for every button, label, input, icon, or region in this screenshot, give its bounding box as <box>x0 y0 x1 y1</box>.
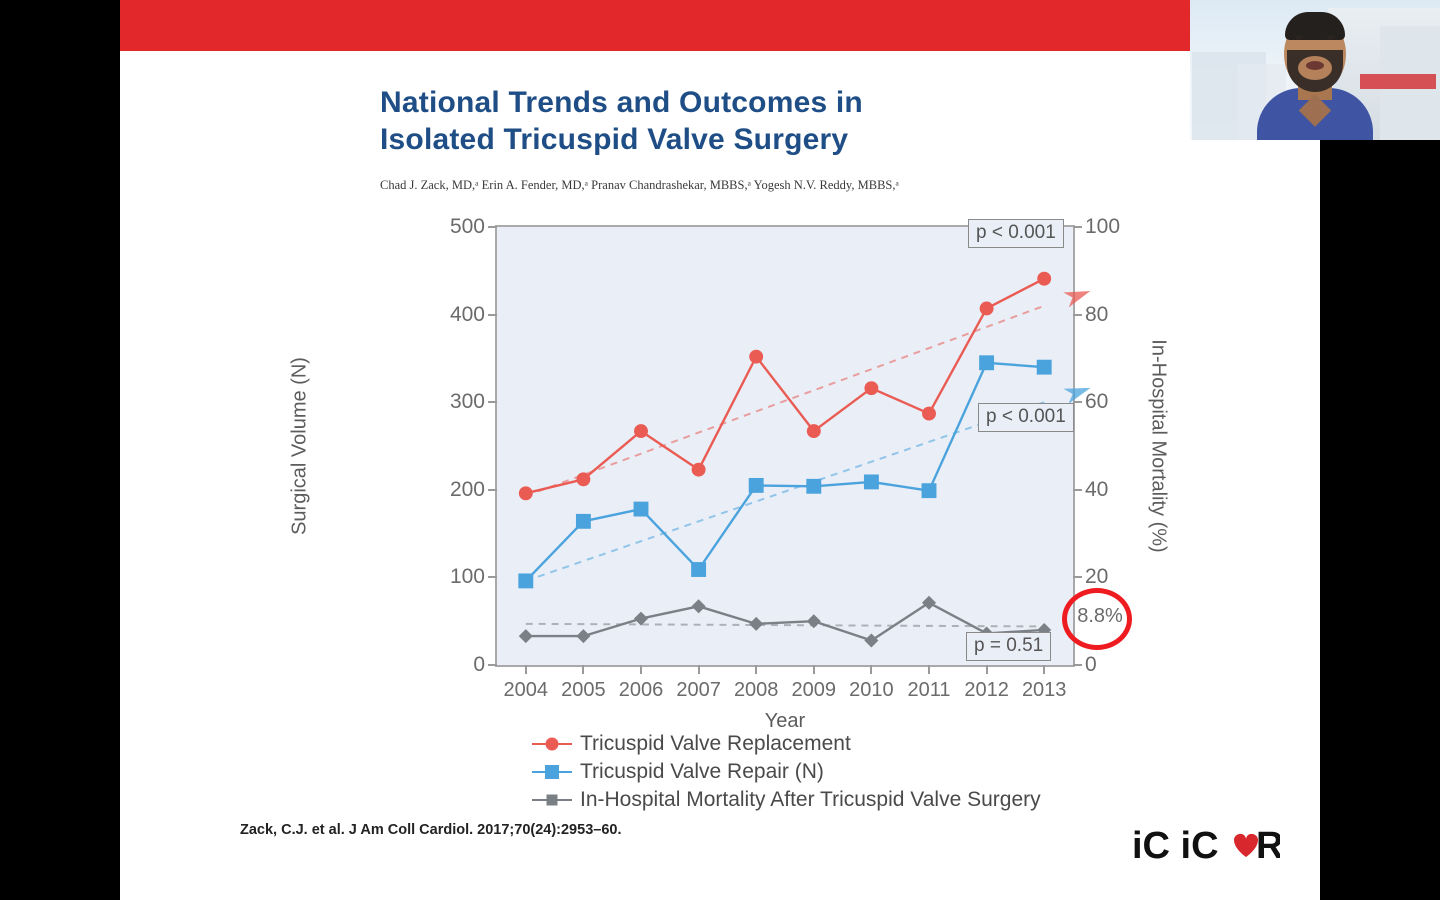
legend-label: In-Hospital Mortality After Tricuspid Va… <box>580 788 1041 812</box>
x-tick-mark <box>813 665 815 674</box>
y-tick-mark-right <box>1073 489 1082 491</box>
title-line-1: National Trends and Outcomes in <box>380 85 1080 122</box>
y-tick-mark-left <box>488 401 497 403</box>
x-tick-label: 2010 <box>849 679 894 702</box>
mortality-callout-label: 8.8% <box>1070 605 1130 628</box>
x-tick-label: 2008 <box>734 679 779 702</box>
x-tick-mark <box>640 665 642 674</box>
legend-marker-square-icon <box>532 762 572 782</box>
y-tick-mark-left <box>488 314 497 316</box>
y-tick-label-right: 20 <box>1085 565 1108 589</box>
plot-area: 0100200300400500020406080100200420052006… <box>495 225 1075 667</box>
x-tick-label: 2012 <box>964 679 1009 702</box>
y-tick-label-right: 100 <box>1085 215 1120 239</box>
y-tick-label-left: 500 <box>450 215 485 239</box>
presentation-slide: National Trends and Outcomes in Isolated… <box>120 0 1320 900</box>
y-tick-mark-right <box>1073 664 1082 666</box>
slide-header-bar <box>120 0 1320 51</box>
screen: National Trends and Outcomes in Isolated… <box>0 0 1440 900</box>
y-tick-mark-left <box>488 576 497 578</box>
p-value-mortality: p = 0.51 <box>966 632 1051 661</box>
webcam-background-sign <box>1360 74 1436 89</box>
x-tick-mark <box>525 665 527 674</box>
y-tick-label-left: 200 <box>450 478 485 502</box>
y-tick-label-left: 100 <box>450 565 485 589</box>
x-tick-label: 2007 <box>676 679 721 702</box>
plot-lines <box>497 227 1073 665</box>
heart-icon <box>1234 834 1258 857</box>
y-tick-mark-left <box>488 664 497 666</box>
presenter-hair <box>1285 12 1345 40</box>
svg-text:iC iC: iC iC <box>1132 825 1219 867</box>
legend-item: In-Hospital Mortality After Tricuspid Va… <box>532 786 1041 814</box>
y-tick-mark-left <box>488 226 497 228</box>
icicor-logo: iC iC R <box>1130 818 1280 870</box>
y-tick-label-right: 40 <box>1085 478 1108 502</box>
y-axis-label-right: In-Hospital Mortality (%) <box>1147 339 1170 552</box>
presenter-eye-left <box>1295 35 1303 40</box>
p-value-repair: p < 0.001 <box>978 403 1074 432</box>
x-tick-label: 2011 <box>907 679 950 702</box>
chart-figure: Surgical Volume (N) In-Hospital Mortalit… <box>280 205 1180 825</box>
x-tick-label: 2006 <box>619 679 664 702</box>
presenter-mouth <box>1306 61 1324 70</box>
y-tick-label-right: 60 <box>1085 390 1108 414</box>
x-tick-mark <box>755 665 757 674</box>
legend-marker-diamond-icon <box>532 790 572 810</box>
page-title: National Trends and Outcomes in Isolated… <box>380 85 1080 158</box>
legend-label: Tricuspid Valve Repair (N) <box>580 760 824 784</box>
x-tick-label: 2005 <box>561 679 606 702</box>
title-line-2: Isolated Tricuspid Valve Surgery <box>380 122 1080 159</box>
chart-legend: Tricuspid Valve ReplacementTricuspid Val… <box>532 730 1041 814</box>
y-tick-mark-right <box>1073 576 1082 578</box>
x-tick-mark <box>1043 665 1045 674</box>
p-value-replacement: p < 0.001 <box>968 219 1064 248</box>
author-list: Chad J. Zack, MD,ᵃ Erin A. Fender, MD,ᵃ … <box>380 178 1100 193</box>
presenter-eye-right <box>1327 35 1335 40</box>
x-tick-mark <box>870 665 872 674</box>
svg-text:R: R <box>1256 825 1280 867</box>
x-tick-label: 2004 <box>504 679 549 702</box>
y-tick-label-right: 0 <box>1085 653 1097 677</box>
x-tick-mark <box>582 665 584 674</box>
y-axis-label-left: Surgical Volume (N) <box>289 357 312 535</box>
y-tick-label-left: 300 <box>450 390 485 414</box>
x-tick-label: 2013 <box>1022 679 1067 702</box>
presenter-webcam-overlay <box>1190 0 1440 140</box>
x-tick-mark <box>986 665 988 674</box>
citation-text: Zack, C.J. et al. J Am Coll Cardiol. 201… <box>240 822 621 838</box>
y-tick-mark-right <box>1073 401 1082 403</box>
y-tick-mark-left <box>488 489 497 491</box>
y-tick-mark-right <box>1073 226 1082 228</box>
x-tick-label: 2009 <box>792 679 837 702</box>
legend-label: Tricuspid Valve Replacement <box>580 732 851 756</box>
legend-item: Tricuspid Valve Repair (N) <box>532 758 1041 786</box>
legend-item: Tricuspid Valve Replacement <box>532 730 1041 758</box>
y-tick-label-right: 80 <box>1085 303 1108 327</box>
y-tick-mark-right <box>1073 314 1082 316</box>
y-tick-label-left: 0 <box>473 653 485 677</box>
y-tick-label-left: 400 <box>450 303 485 327</box>
legend-marker-circle-icon <box>532 734 572 754</box>
x-tick-mark <box>928 665 930 674</box>
x-tick-mark <box>698 665 700 674</box>
